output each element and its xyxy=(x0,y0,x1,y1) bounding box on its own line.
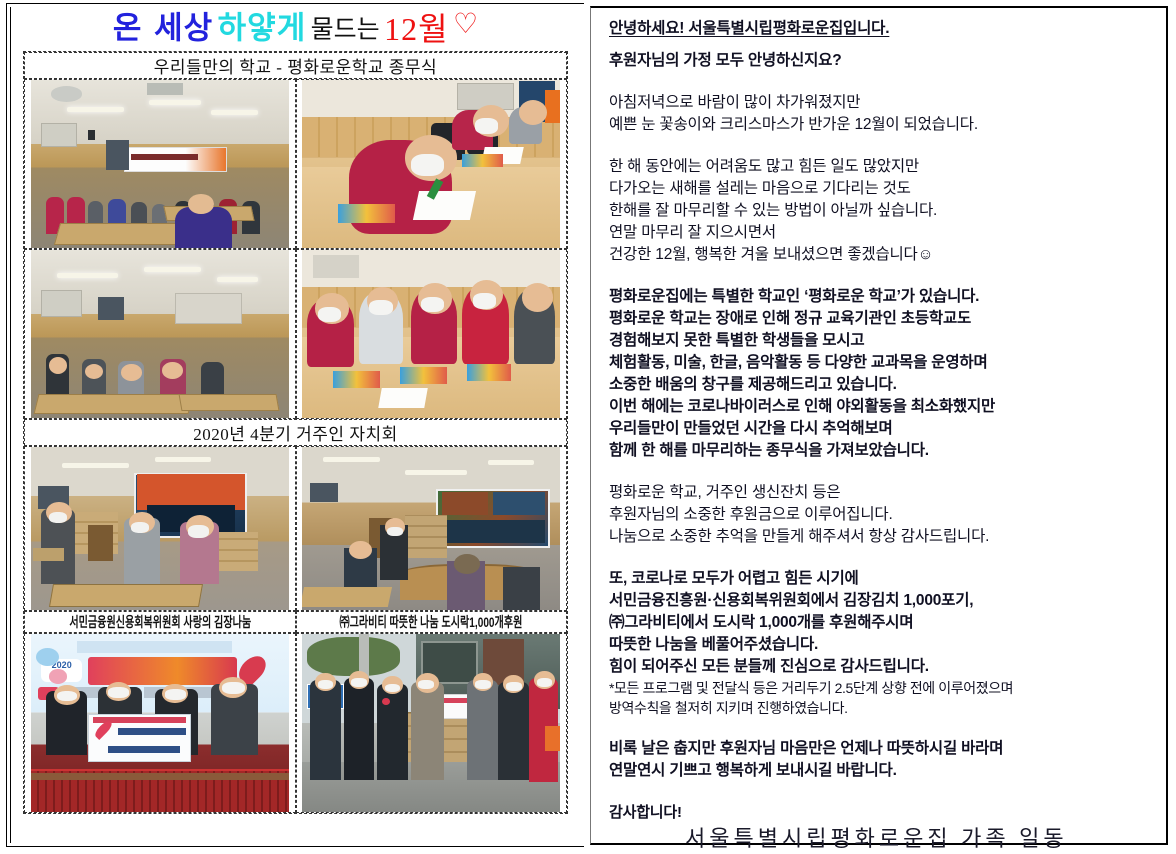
photo-cell xyxy=(296,633,568,813)
letter-para2-line2: 다가오는 새해를 설레는 마음으로 기다리는 것도 xyxy=(609,178,1156,200)
caption-lunchbox-donation: ㈜그라비티 따뜻한 나눔 도시락1,000개후원 xyxy=(340,612,523,632)
letter-question: 후원자님의 가정 모두 안녕하신지요? xyxy=(609,50,1156,72)
caption-cell-kimchi: 서민금융원신용회복위원회 사랑의 김장나눔 xyxy=(24,611,296,633)
letter-para2-line5: 건강한 12월, 행복한 겨울 보내셨으면 좋겠습니다☺ xyxy=(609,244,1156,266)
letter-para6-line2: 연말연시 기쁘고 행복하게 보내시길 바랍니다. xyxy=(609,760,1156,782)
photo-cell xyxy=(24,79,296,249)
letter-para3-line6: 이번 해에는 코로나바이러스로 인해 야외활동을 최소화했지만 xyxy=(609,396,1156,418)
photo-cell xyxy=(296,446,568,611)
photo-lunchbox-donation-group-photo xyxy=(302,634,560,812)
letter-para3-line1: 평화로운집에는 특별한 학교인 ‘평화로운 학교’가 있습니다. xyxy=(609,286,1156,308)
photo-kimchi-donation-ceremony: 2020 xyxy=(31,634,289,812)
letter-para3-line3: 경험해보지 못한 특별한 학생들을 모시고 xyxy=(609,330,1156,352)
letter-para3-line8: 함께 한 해를 마무리하는 종무식을 가져보았습니다. xyxy=(609,440,1156,462)
photo-meeting-presentation-photos-slide xyxy=(302,447,560,610)
caption-kimchi-donation: 서민금융원신용회복위원회 사랑의 김장나눔 xyxy=(69,612,251,632)
left-column-border: 온 세상 하얗게 물드는 12월 ♡ 우리들만의 학교 - 평화로운학교 종무식 xyxy=(6,3,584,847)
masthead-segment-4: 12월 xyxy=(384,11,448,47)
letter-para5-line4: 따뜻한 나눔을 베풀어주셨습니다. xyxy=(609,634,1156,656)
left-column: 온 세상 하얗게 물드는 12월 ♡ 우리들만의 학교 - 평화로운학교 종무식 xyxy=(0,0,588,849)
letter-para5-line5: 힘이 되어주신 모든 분들께 진심으로 감사드립니다. xyxy=(609,656,1156,678)
letter-para3-line4: 체험활동, 미술, 한글, 음악활동 등 다양한 교과목을 운영하며 xyxy=(609,352,1156,374)
photo-student-writing-red-hoodie xyxy=(302,80,560,248)
letter-footnote-line2: 방역수칙을 철저히 지키며 진행하였습니다. xyxy=(609,698,1156,718)
letter-para3-line5: 소중한 배움의 창구를 제공해드리고 있습니다. xyxy=(609,374,1156,396)
letter-para5-line2: 서민금융진흥원·신용회복위원회에서 김장김치 1,000포기, xyxy=(609,590,1156,612)
caption-cell-lunchbox: ㈜그라비티 따뜻한 나눔 도시락1,000개후원 xyxy=(296,611,568,633)
letter-para3-line2: 평화로운 학교는 장애로 인해 정규 교육기관인 초등학교도 xyxy=(609,308,1156,330)
letter-thanks: 감사합니다! xyxy=(609,802,1156,824)
sponsor-letter: 안녕하세요! 서울특별시립평화로운집입니다. 후원자님의 가정 모두 안녕하신지… xyxy=(609,18,1156,854)
photo-grid: 우리들만의 학교 - 평화로운학교 종무식 xyxy=(23,51,568,814)
photo-meeting-with-projector-screen xyxy=(31,447,289,610)
letter-para5-line1: 또, 코로나로 모두가 어렵고 힘든 시기에 xyxy=(609,568,1156,590)
letter-para1-line2: 예쁜 눈 꽃송이와 크리스마스가 반가운 12월이 되었습니다. xyxy=(609,114,1156,136)
heart-icon: ♡ xyxy=(453,8,478,39)
photo-cell xyxy=(24,446,296,611)
letter-panel: 안녕하세요! 서울특별시립평화로운집입니다. 후원자님의 가정 모두 안녕하신지… xyxy=(590,6,1168,845)
letter-para4-line3: 나눔으로 소중한 추억을 만들게 해주셔서 항상 감사드립니다. xyxy=(609,526,1156,548)
letter-para4-line1: 평화로운 학교, 거주인 생신잔치 등은 xyxy=(609,482,1156,504)
letter-para2-line4: 연말 마무리 잘 지으시면서 xyxy=(609,222,1156,244)
letter-para5-line3: ㈜그라비티에서 도시락 1,000개를 후원해주시며 xyxy=(609,612,1156,634)
letter-para2-line1: 한 해 동안에는 어려움도 많고 힘든 일도 많았지만 xyxy=(609,156,1156,178)
letter-para2-line3: 한해를 잘 마무리할 수 있는 방법이 아닐까 싶습니다. xyxy=(609,200,1156,222)
letter-greeting: 안녕하세요! 서울특별시립평화로운집입니다. xyxy=(609,18,1156,40)
masthead-segment-2: 하얗게 xyxy=(218,10,307,46)
photo-classroom-wide-ceremony xyxy=(31,80,289,248)
masthead-segment-1: 온 세상 xyxy=(113,10,213,46)
section-title-council: 2020년 4분기 거주인 자치회 xyxy=(24,419,567,446)
masthead-segment-3: 물드는 xyxy=(311,14,380,43)
right-column: 안녕하세요! 서울특별시립평화로운집입니다. 후원자님의 가정 모두 안녕하신지… xyxy=(588,0,1176,849)
masthead-title: 온 세상 하얗게 물드는 12월 ♡ xyxy=(10,6,581,51)
photo-cell xyxy=(296,79,568,249)
photo-cell: 2020 xyxy=(24,633,296,813)
letter-para1-line1: 아침저녁으로 바람이 많이 차가워졌지만 xyxy=(609,92,1156,114)
photo-cell xyxy=(296,249,568,419)
letter-signature: 서울특별시립평화로운집 가족 일동 xyxy=(609,824,1156,854)
photo-classroom-seated-participants xyxy=(31,250,289,418)
letter-para4-line2: 후원자님의 소중한 후원금으로 이루어집니다. xyxy=(609,504,1156,526)
section-title-school: 우리들만의 학교 - 평화로운학교 종무식 xyxy=(24,52,567,79)
newsletter-page: 온 세상 하얗게 물드는 12월 ♡ 우리들만의 학교 - 평화로운학교 종무식 xyxy=(0,0,1176,849)
letter-para3-line7: 우리들만이 만들었던 시간을 다시 추억해보며 xyxy=(609,418,1156,440)
photo-students-drawing-at-desk xyxy=(302,250,560,418)
letter-footnote-line1: *모든 프로그램 및 전달식 등은 거리두기 2.5단계 상향 전에 이루어졌으… xyxy=(609,678,1156,698)
letter-para6-line1: 비록 날은 춥지만 후원자님 마음만은 언제나 따뜻하시길 바라며 xyxy=(609,738,1156,760)
photo-cell xyxy=(24,249,296,419)
